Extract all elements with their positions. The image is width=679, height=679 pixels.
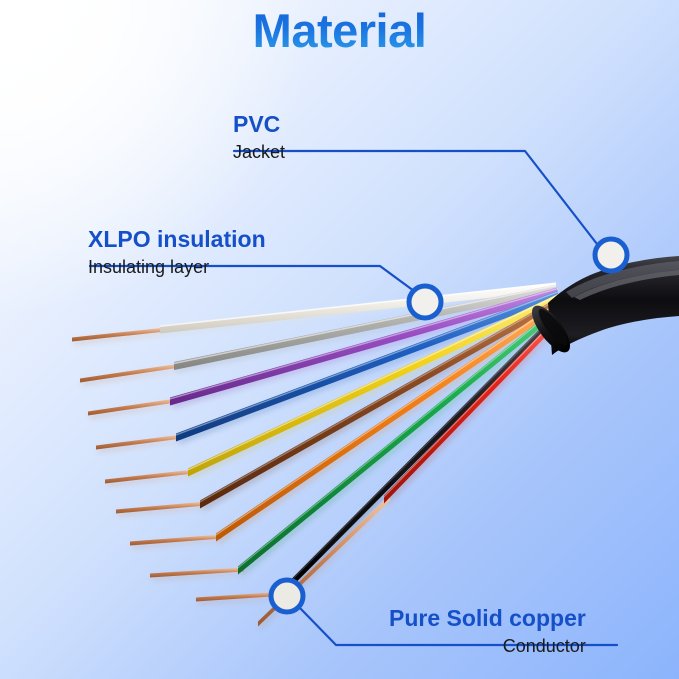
callout-xlpo: XLPO insulation Insulating layer	[88, 227, 266, 279]
infographic-canvas: Material PVC Jacket XLPO insulation Insu…	[0, 0, 679, 679]
leader-pvc	[234, 151, 597, 244]
callout-pvc-sub: Jacket	[233, 137, 285, 164]
pvc-jacket	[525, 256, 679, 358]
callout-copper-heading: Pure Solid copper	[389, 606, 586, 631]
marker-xlpo	[409, 286, 441, 318]
callout-xlpo-sub: Insulating layer	[88, 252, 266, 279]
callout-pvc-heading: PVC	[233, 112, 285, 137]
callout-xlpo-heading: XLPO insulation	[88, 227, 266, 252]
red-wire	[258, 309, 565, 627]
cable-illustration	[0, 0, 679, 679]
callout-pvc: PVC Jacket	[233, 112, 285, 164]
callout-copper-sub: Conductor	[389, 631, 586, 658]
callout-copper: Pure Solid copper Conductor	[389, 606, 586, 658]
marker-pvc	[595, 239, 627, 271]
marker-copper	[271, 580, 303, 612]
wire-group	[72, 283, 565, 627]
page-title: Material	[0, 4, 679, 58]
